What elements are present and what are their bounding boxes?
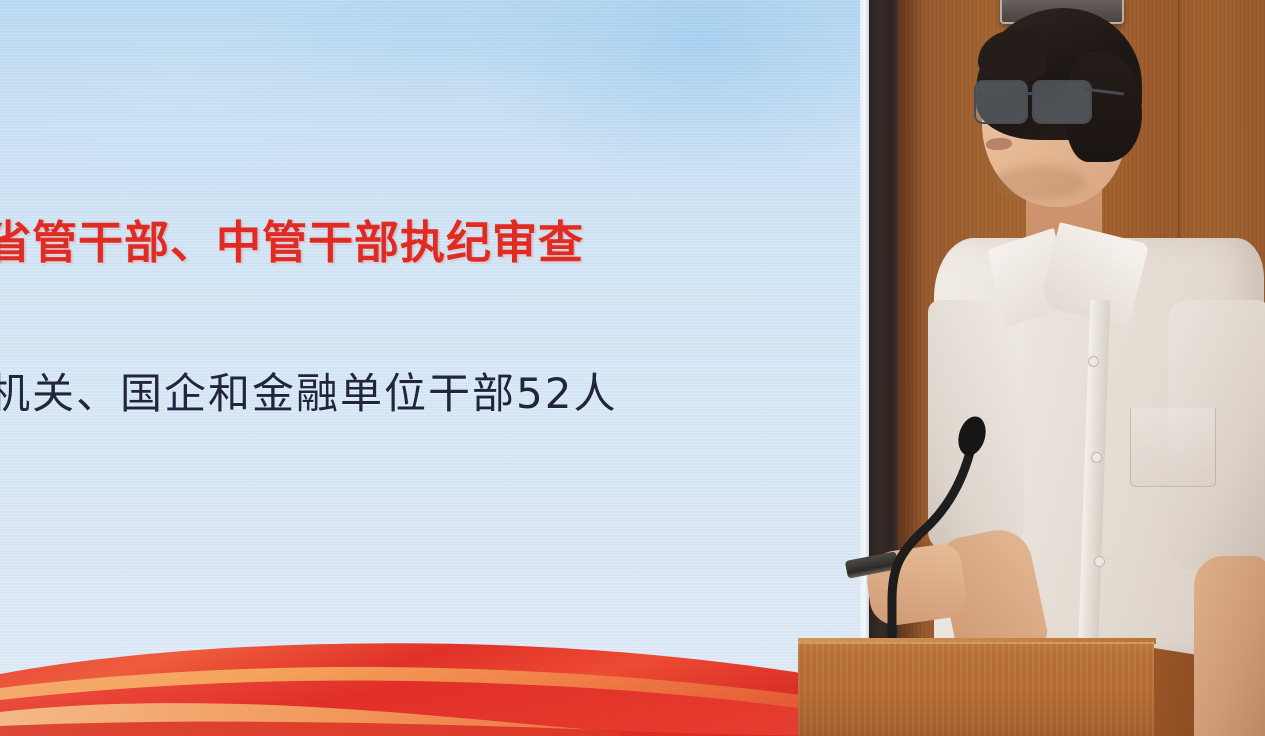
ribbon-wave-3 xyxy=(0,681,867,736)
projection-screen: 省管干部、中管干部执纪审查 机关、国企和金融单位干部52人 xyxy=(0,0,867,736)
ribbon-wave-2 xyxy=(0,667,867,736)
glasses-lens-right xyxy=(1032,80,1092,124)
glasses-bridge xyxy=(1024,92,1034,95)
slide-body-text: 机关、国企和金融单位干部52人 xyxy=(0,368,617,420)
podium xyxy=(798,642,1154,736)
ribbon-wave-1 xyxy=(0,643,867,736)
microphone-capsule xyxy=(954,413,990,459)
podium-side-panel xyxy=(1154,648,1194,736)
ribbon-svg xyxy=(0,626,867,736)
shirt-button xyxy=(1091,452,1102,463)
mouth xyxy=(986,138,1012,150)
ribbon-wave-4 xyxy=(0,703,620,736)
microphone-gooseneck xyxy=(892,452,970,658)
glasses-lens-left xyxy=(974,80,1028,124)
microphone-icon xyxy=(820,390,1000,670)
slide-heading: 省管干部、中管干部执纪审查 xyxy=(0,216,584,270)
ribbon-wave-5 xyxy=(0,722,867,736)
slide-ribbon-decoration xyxy=(0,626,867,736)
shirt-button xyxy=(1088,356,1099,367)
presentation-scene: 省管干部、中管干部执纪审查 机关、国企和金融单位干部52人 xyxy=(0,0,1265,736)
shirt-pocket xyxy=(1130,408,1216,487)
hair-fringe xyxy=(978,30,1046,82)
chin-shadow xyxy=(994,166,1086,200)
podium-wood-grain xyxy=(798,642,1154,736)
glasses-icon xyxy=(974,80,1106,126)
arm-right xyxy=(1194,556,1265,736)
microphone-svg xyxy=(820,390,1000,670)
shirt-button xyxy=(1094,556,1105,567)
